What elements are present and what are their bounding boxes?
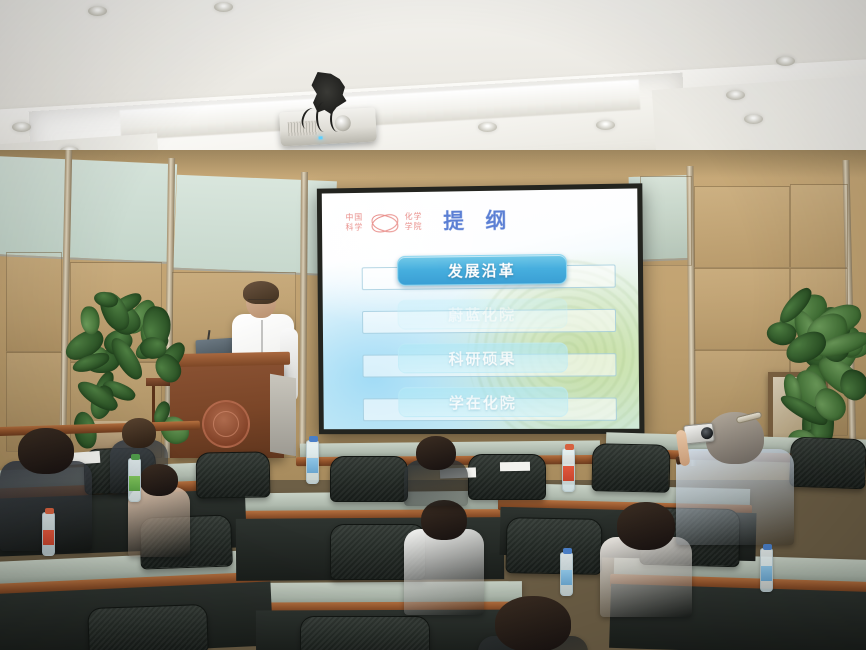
recessed-downlight xyxy=(776,56,795,66)
handheld-camera xyxy=(683,422,715,444)
ceiling-projector xyxy=(272,72,384,154)
bottle-cap xyxy=(763,544,772,550)
audience-member-7 xyxy=(478,596,588,650)
bottle-label xyxy=(561,570,572,585)
person-head xyxy=(617,502,675,550)
person-head xyxy=(140,464,178,496)
audience-chair[interactable] xyxy=(789,437,866,490)
recessed-downlight xyxy=(596,120,615,130)
person-head xyxy=(706,412,764,464)
recessed-downlight xyxy=(12,122,31,132)
bottle-label xyxy=(563,466,574,481)
podium-side-panel xyxy=(270,374,296,457)
slide-menu-label: 蔚蓝化院 xyxy=(397,298,567,329)
water-bottle xyxy=(42,512,55,556)
bottle-label xyxy=(43,530,54,545)
audience-chair[interactable] xyxy=(196,451,271,498)
projector-status-led-icon xyxy=(318,136,322,139)
slide-menu-label: 发展沿革 xyxy=(397,254,567,286)
bottle-label xyxy=(307,458,318,473)
glass-upper-panel xyxy=(0,156,177,264)
glass-upper-panel xyxy=(173,175,337,277)
audience-member-1 xyxy=(0,428,92,518)
slide-outline-menu: 发展沿革蔚蓝化院科研硕果学在化院 xyxy=(358,253,617,421)
lecture-hall-scene: 中国 科学 化学 学院 提 纲 发展沿革蔚蓝化院科研硕果学在化院 xyxy=(0,0,866,650)
slide-menu-item-2[interactable]: 蔚蓝化院 xyxy=(358,298,616,334)
audience-chair[interactable] xyxy=(592,443,671,493)
person-head xyxy=(18,428,74,474)
projection-screen[interactable]: 中国 科学 化学 学院 提 纲 发展沿革蔚蓝化院科研硕果学在化院 xyxy=(317,183,645,434)
slide-menu-label: 学在化院 xyxy=(398,387,568,418)
water-bottle xyxy=(128,458,141,502)
wall-panel xyxy=(6,252,62,352)
water-bottle xyxy=(562,448,575,492)
bottle-cap xyxy=(565,444,574,450)
person-torso xyxy=(404,529,484,615)
university-seal-emblem xyxy=(202,400,250,448)
plant-leaf xyxy=(81,306,100,334)
slide-title: 提 纲 xyxy=(322,203,638,238)
person-head xyxy=(122,418,156,448)
person-head xyxy=(416,436,456,470)
bottle-label xyxy=(761,566,772,581)
water-bottle xyxy=(760,548,773,592)
projector-cable xyxy=(330,106,346,132)
audience-chair[interactable] xyxy=(506,517,603,575)
wall-panel xyxy=(640,176,692,266)
bottle-cap xyxy=(131,454,140,460)
person-head xyxy=(495,596,571,650)
water-bottle xyxy=(560,552,573,596)
bottle-cap xyxy=(45,508,54,514)
audience-chair[interactable] xyxy=(300,616,430,650)
slide-surface: 中国 科学 化学 学院 提 纲 发展沿革蔚蓝化院科研硕果学在化院 xyxy=(322,188,640,429)
bottle-label xyxy=(129,476,140,491)
recessed-downlight xyxy=(744,114,763,124)
wall-panel xyxy=(694,186,790,268)
slide-menu-label: 科研硕果 xyxy=(398,342,568,373)
audience-chair[interactable] xyxy=(330,456,408,502)
slide-menu-item-3[interactable]: 科研硕果 xyxy=(358,342,616,377)
water-bottle xyxy=(306,440,319,484)
slide-menu-item-1[interactable]: 发展沿革 xyxy=(358,253,616,290)
paper-handout xyxy=(500,462,530,472)
audience-chair[interactable] xyxy=(87,604,209,650)
slide-menu-item-4[interactable]: 学在化院 xyxy=(359,386,617,421)
recessed-downlight xyxy=(478,122,497,132)
person-head xyxy=(421,500,467,540)
recessed-downlight xyxy=(214,2,233,12)
recessed-downlight xyxy=(88,6,107,16)
eyeglasses-icon xyxy=(248,299,274,305)
audience-member-6 xyxy=(404,436,468,482)
recessed-downlight xyxy=(726,90,745,100)
audience-chair[interactable] xyxy=(468,454,546,500)
audience-member-4 xyxy=(404,500,484,586)
bottle-cap xyxy=(563,548,572,554)
bottle-cap xyxy=(309,436,318,442)
wall-panel xyxy=(790,184,848,268)
